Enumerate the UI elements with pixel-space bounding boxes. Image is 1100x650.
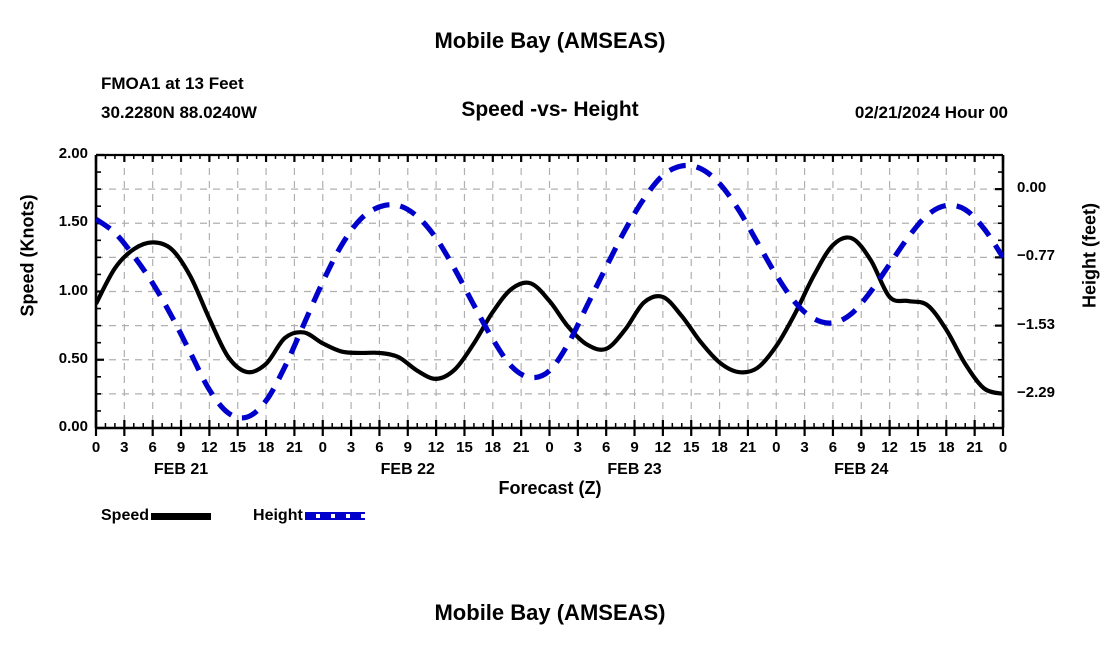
y-axis-tick-label: 1.00: [30, 282, 88, 299]
legend-item-height: Height: [253, 507, 365, 525]
x-axis-tick-label: 21: [733, 439, 763, 456]
x-axis-tick-label: 3: [563, 439, 593, 456]
y-axis-tick-label: 2.00: [30, 145, 88, 162]
x-axis-tick-label: 0: [761, 439, 791, 456]
x-axis-tick-label: 0: [81, 439, 111, 456]
x-axis-tick-label: 12: [875, 439, 905, 456]
x-axis-day-label: FEB 24: [811, 461, 911, 479]
x-axis-tick-label: 9: [620, 439, 650, 456]
x-axis-tick-label: 21: [506, 439, 536, 456]
x-axis-day-label: FEB 21: [131, 461, 231, 479]
chart-page: Mobile Bay (AMSEAS) FMOA1 at 13 Feet 30.…: [0, 0, 1100, 650]
axis-tick-label-layer: 0.000.501.001.502.00−2.29−1.53−0.770.000…: [0, 0, 1100, 500]
x-axis-tick-label: 21: [960, 439, 990, 456]
x-axis-tick-label: 6: [364, 439, 394, 456]
x-axis-tick-label: 3: [109, 439, 139, 456]
x-axis-tick-label: 9: [846, 439, 876, 456]
y2-axis-tick-label: −0.77: [1017, 247, 1087, 264]
x-axis-tick-label: 21: [279, 439, 309, 456]
x-axis-day-label: FEB 22: [358, 461, 458, 479]
chart-legend: Speed Height: [101, 507, 365, 525]
x-axis-tick-label: 0: [308, 439, 338, 456]
legend-swatch-speed-icon: [151, 513, 211, 520]
y2-axis-tick-label: 0.00: [1017, 179, 1087, 196]
x-axis-tick-label: 18: [931, 439, 961, 456]
legend-label-speed: Speed: [101, 507, 149, 525]
x-axis-tick-label: 9: [166, 439, 196, 456]
x-axis-tick-label: 12: [648, 439, 678, 456]
legend-swatch-height-icon: [305, 512, 365, 520]
y-axis-tick-label: 0.50: [30, 350, 88, 367]
x-axis-tick-label: 0: [988, 439, 1018, 456]
y-axis-tick-label: 0.00: [30, 418, 88, 435]
x-axis-tick-label: 12: [421, 439, 451, 456]
y-axis-tick-label: 1.50: [30, 213, 88, 230]
x-axis-tick-label: 18: [478, 439, 508, 456]
x-axis-tick-label: 3: [336, 439, 366, 456]
x-axis-tick-label: 15: [903, 439, 933, 456]
x-axis-tick-label: 15: [676, 439, 706, 456]
x-axis-tick-label: 15: [223, 439, 253, 456]
page-footer-title: Mobile Bay (AMSEAS): [0, 600, 1100, 626]
x-axis-tick-label: 3: [790, 439, 820, 456]
x-axis-tick-label: 18: [251, 439, 281, 456]
legend-item-speed: Speed: [101, 507, 211, 525]
x-axis-tick-label: 12: [194, 439, 224, 456]
x-axis-tick-label: 6: [591, 439, 621, 456]
x-axis-tick-label: 9: [393, 439, 423, 456]
x-axis-tick-label: 6: [138, 439, 168, 456]
x-axis-tick-label: 0: [535, 439, 565, 456]
y2-axis-tick-label: −1.53: [1017, 316, 1087, 333]
x-axis-day-label: FEB 23: [585, 461, 685, 479]
x-axis-tick-label: 15: [449, 439, 479, 456]
x-axis-tick-label: 18: [705, 439, 735, 456]
legend-label-height: Height: [253, 507, 303, 525]
x-axis-tick-label: 6: [818, 439, 848, 456]
y2-axis-tick-label: −2.29: [1017, 384, 1087, 401]
